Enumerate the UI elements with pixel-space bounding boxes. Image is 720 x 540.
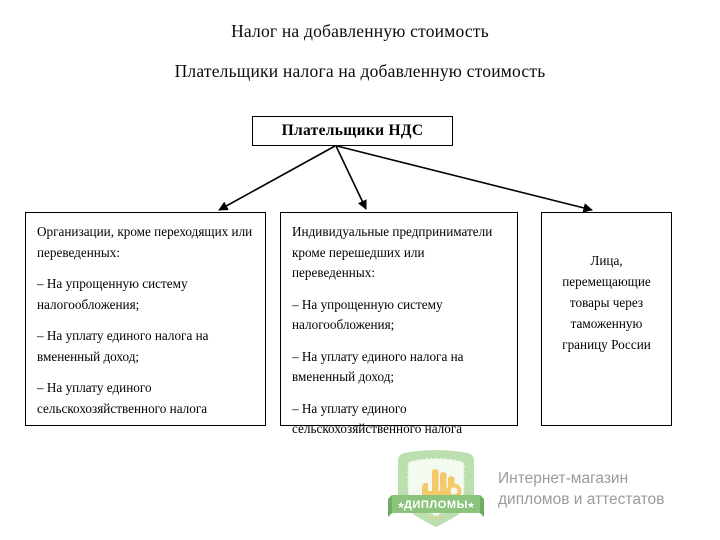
node-organizations-line-4: – На уплату единого сельскохозяйственног… [37, 378, 254, 419]
node-organizations-line-2: – На упрощенную систему налогообложения; [37, 274, 254, 315]
node-root-label: Плательщики НДС [282, 122, 424, 140]
page-subtitle: Плательщики налога на добавленную стоимо… [0, 61, 720, 82]
node-customs-border-persons: Лица, перемещающие товары через таможенн… [541, 212, 672, 426]
node-organizations-line-3: – На уплату единого налога на вмененный … [37, 326, 254, 367]
diagram-canvas: Налог на добавленную стоимость Плательщи… [0, 0, 720, 540]
node-entrepreneurs-line-2: – На упрощенную систему налогообложения; [292, 295, 506, 336]
star-left-icon: ★ [397, 500, 405, 510]
watermark: ДИПЛОМЫ ★ ★ Интернет-магазин дипломов и … [388, 446, 708, 532]
node-customs-inner: Лица, перемещающие товары через таможенн… [553, 250, 660, 355]
node-individual-entrepreneurs: Индивидуальные предприниматели кроме пер… [280, 212, 518, 426]
node-organizations-line-1: Организации, кроме переходящих или перев… [37, 222, 254, 263]
node-vat-payers-root: Плательщики НДС [252, 116, 453, 146]
ribbon-label: ДИПЛОМЫ [404, 499, 468, 511]
watermark-text-line-1: Интернет-магазин [498, 468, 664, 489]
node-customs-line-1: Лица, перемещающие товары через таможенн… [553, 250, 660, 355]
node-entrepreneurs-line-4: – На уплату единого сельскохозяйственног… [292, 399, 506, 440]
node-entrepreneurs-line-3: – На уплату единого налога на вмененный … [292, 347, 506, 388]
node-organizations: Организации, кроме переходящих или перев… [25, 212, 266, 426]
connector-to-customs [337, 146, 592, 210]
connector-to-organizations [219, 146, 335, 210]
star-right-icon: ★ [467, 500, 475, 510]
watermark-text: Интернет-магазин дипломов и аттестатов [498, 468, 664, 510]
connector-to-entrepreneurs [336, 146, 366, 209]
diplomas-shield-badge-icon: ДИПЛОМЫ ★ ★ [388, 447, 484, 531]
page-title: Налог на добавленную стоимость [0, 21, 720, 42]
node-entrepreneurs-line-1: Индивидуальные предприниматели кроме пер… [292, 222, 506, 284]
shield-logo-svg: ДИПЛОМЫ ★ ★ [388, 447, 484, 531]
watermark-text-line-2: дипломов и аттестатов [498, 489, 664, 510]
